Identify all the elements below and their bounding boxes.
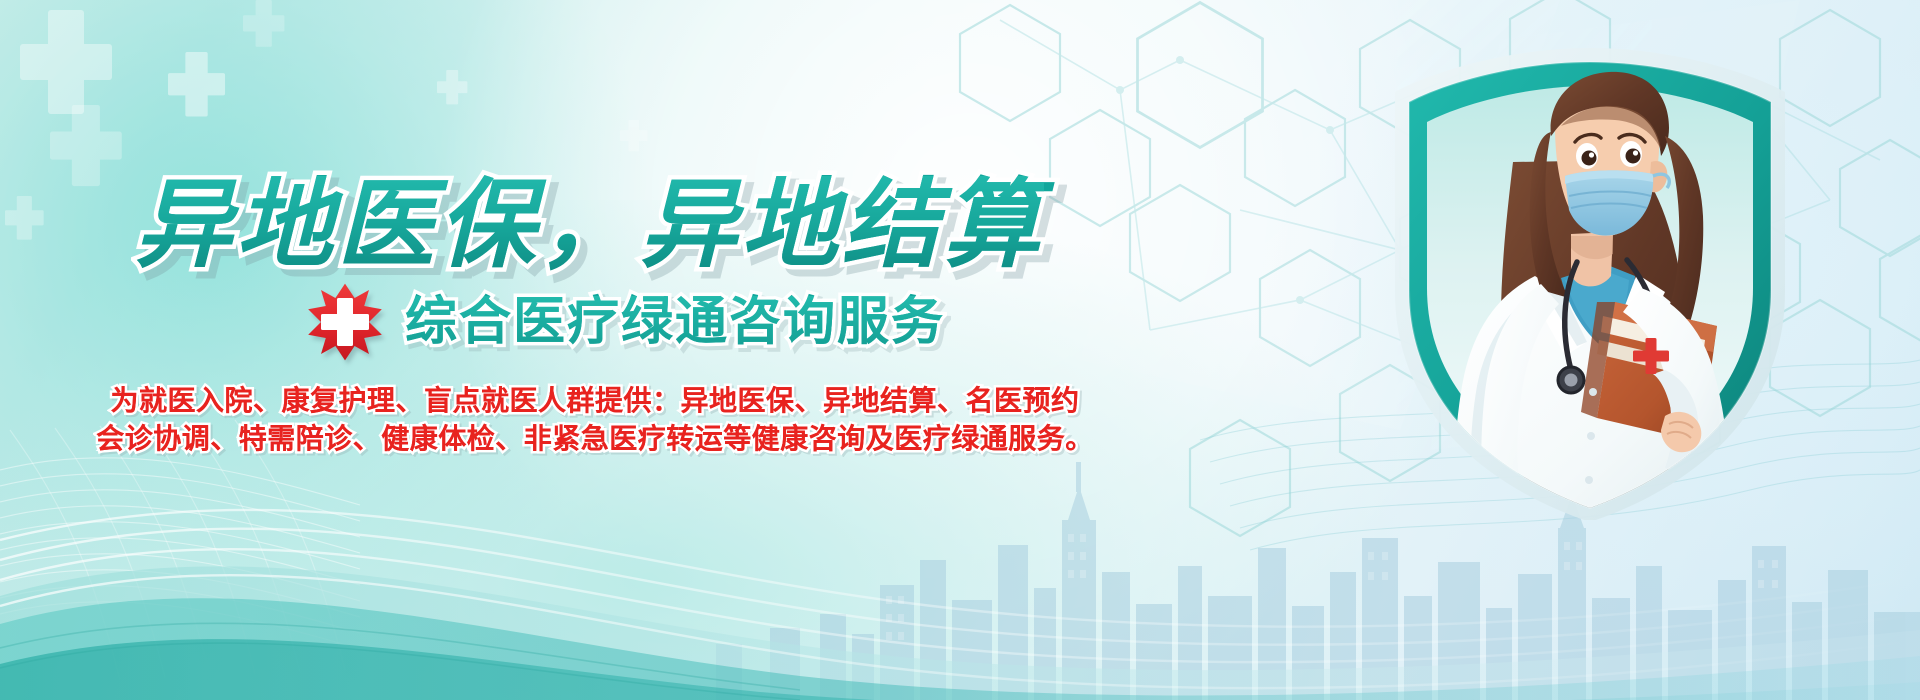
- subtitle-row: 综合医疗绿通咨询服务 综合医疗绿通咨询服务: [305, 282, 945, 362]
- description-line-1-text: 为就医入院、康复护理、盲点就医人群提供：异地医保、异地结算、名医预约: [0, 382, 1190, 420]
- female-doctor-illustration: [1365, 40, 1815, 520]
- description-line-2-text: 会诊协调、特需陪诊、健康体检、非紧急医疗转运等健康咨询及医疗绿通服务。: [0, 420, 1190, 458]
- description-block: 为就医入院、康复护理、盲点就医人群提供：异地医保、异地结算、名医预约 为就医入院…: [0, 382, 1190, 458]
- description-line-1: 为就医入院、康复护理、盲点就医人群提供：异地医保、异地结算、名医预约 为就医入院…: [0, 382, 1190, 420]
- medical-cross-icon: [305, 282, 385, 362]
- headline-block: 异地医保，异地结算 异地医保，异地结算: [0, 0, 1180, 560]
- description-line-2: 会诊协调、特需陪诊、健康体检、非紧急医疗转运等健康咨询及医疗绿通服务。 会诊协调…: [0, 420, 1190, 458]
- medical-service-banner: 异地医保，异地结算 异地医保，异地结算: [0, 0, 1920, 700]
- page-title: 异地医保，异地结算: [135, 176, 1044, 273]
- page-subtitle: 综合医疗绿通咨询服务: [405, 296, 945, 348]
